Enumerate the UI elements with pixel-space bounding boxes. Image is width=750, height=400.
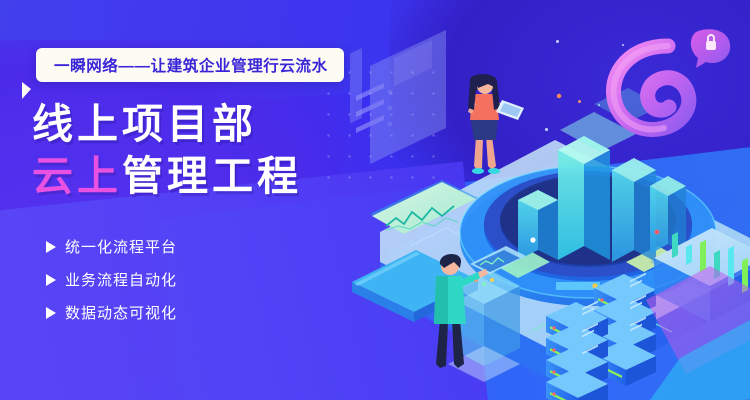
- headline-line-1: 线上项目部: [32, 100, 302, 148]
- triangle-right-icon: [46, 274, 56, 286]
- tagline-ribbon: 一瞬网络——让建筑企业管理行云流水: [36, 48, 344, 82]
- ribbon-tail: [22, 82, 31, 99]
- triangle-right-icon: [46, 307, 56, 319]
- list-item: 统一化流程平台: [46, 236, 177, 257]
- list-item-label: 统一化流程平台: [65, 236, 177, 257]
- list-item-label: 数据动态可视化: [65, 302, 177, 323]
- headline-accent: 云上: [32, 153, 122, 199]
- ui-card-panel: [350, 0, 446, 164]
- swirl-e-logo: [613, 46, 688, 130]
- woman-with-tablet: [468, 74, 524, 174]
- tablet-icon: [496, 100, 524, 120]
- promo-banner: 一瞬网络——让建筑企业管理行云流水 线上项目部 云上管理工程 统一化流程平台 业…: [0, 0, 750, 400]
- headline-rest: 管理工程: [122, 153, 302, 199]
- list-item-label: 业务流程自动化: [65, 269, 177, 290]
- list-item: 业务流程自动化: [46, 269, 177, 290]
- list-item: 数据动态可视化: [46, 302, 177, 323]
- feature-bullet-list: 统一化流程平台 业务流程自动化 数据动态可视化: [46, 236, 177, 323]
- speech-bubble-lock-icon: [691, 29, 730, 68]
- ui-card-panel-small: [350, 48, 362, 130]
- isometric-illustration: [350, 0, 750, 400]
- headline-block: 线上项目部 云上管理工程: [32, 100, 302, 201]
- triangle-right-icon: [46, 241, 56, 253]
- headline-line-2: 云上管理工程: [32, 152, 302, 200]
- tagline-text: 一瞬网络——让建筑企业管理行云流水: [54, 54, 328, 76]
